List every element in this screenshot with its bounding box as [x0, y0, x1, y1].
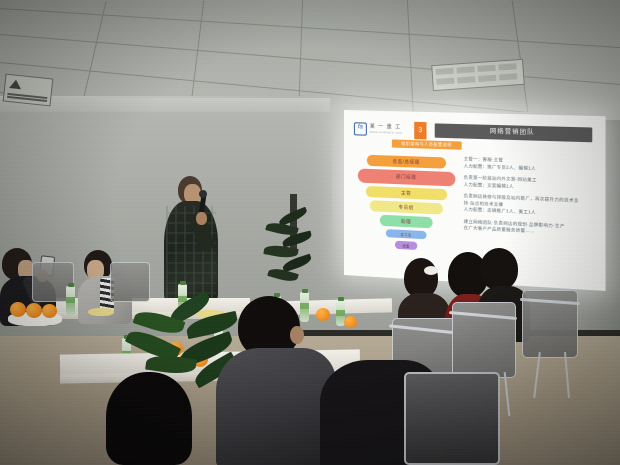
plant-back: [262, 206, 320, 302]
water-bottle: [66, 286, 75, 316]
chair-right-3: [522, 290, 578, 358]
funnel-row-label: 储备: [402, 243, 409, 248]
presenter: [160, 176, 222, 306]
funnel-row: 专员组: [370, 200, 443, 214]
slide-title-bar: 网络营销团队: [435, 123, 593, 142]
slide-bullet-text: 主管一：客服·主管人力配置：推广专员2人、编辑1人负责第一阶段站内外文案·网站美…: [464, 156, 595, 243]
slide-logo: fa 某 一 重 工 www.example.com: [354, 122, 403, 136]
funnel-row: 助理: [380, 215, 433, 229]
logo-mark-icon: fa: [354, 122, 367, 135]
wall-speaker-unit: [3, 74, 54, 107]
presenter-hand: [196, 212, 207, 225]
funnel-row-label: 主管: [401, 190, 411, 197]
orange: [10, 302, 26, 317]
snack-plate: [88, 308, 114, 316]
funnel-row-label: 实习生: [400, 231, 411, 237]
slide-funnel-diagram: 总监/总经理部门经理主管专员组助理实习生储备: [358, 154, 456, 255]
bullet-block: 主管一：客服·主管人力配置：推广专员2人、编辑1人: [464, 156, 595, 174]
funnel-row-label: 助理: [401, 218, 411, 225]
attendee-head: [480, 248, 518, 290]
logo-subtext: www.example.com: [370, 130, 403, 135]
slide-subtitle-text: 组织架构与人员配置说明: [392, 139, 462, 149]
funnel-row: 部门经理: [358, 169, 456, 187]
funnel-row-label: 专员组: [398, 204, 413, 211]
funnel-row-label: 总监/总经理: [393, 158, 420, 165]
meeting-room-photo: fa 某 一 重 工 www.example.com 3 组织架构与人员配置说明…: [0, 0, 620, 465]
funnel-row: 总监/总经理: [367, 155, 446, 169]
slide-title-text: 网络营销团队: [435, 123, 593, 142]
bullet-block: 负责网店装修与排版及站内推广，再次提升力的技术支持·站点的技术支撑人力配置：店铺…: [464, 193, 595, 219]
slide-subtitle-tag: 组织架构与人员配置说明: [392, 139, 462, 149]
attendee-torso: [216, 348, 336, 465]
chair-foreground: [404, 372, 500, 465]
microphone-head-icon: [199, 190, 207, 198]
funnel-row: 储备: [395, 241, 417, 250]
bullet-block: 负责第一阶段站内外文案·网站美工人力配置：文案编辑1人: [464, 174, 595, 193]
chair-left-back-2: [110, 262, 150, 302]
slide-number-badge: 3: [414, 122, 426, 140]
funnel-row: 实习生: [386, 229, 427, 239]
orange: [26, 303, 42, 318]
attendee-front-left: [96, 372, 216, 465]
attendee-ear: [290, 326, 304, 344]
orange: [42, 304, 57, 318]
hair-bow: [424, 266, 438, 275]
bullet-block: 建立网络团队·负责网店的规划·品牌影响力·生产在广大客户产品质量服务质量……: [464, 218, 595, 238]
chair-right-2: [452, 302, 516, 378]
funnel-row-label: 部门经理: [396, 174, 416, 181]
funnel-row: 主管: [366, 186, 447, 201]
attendee-head: [404, 258, 438, 298]
attendee-head: [106, 372, 192, 465]
